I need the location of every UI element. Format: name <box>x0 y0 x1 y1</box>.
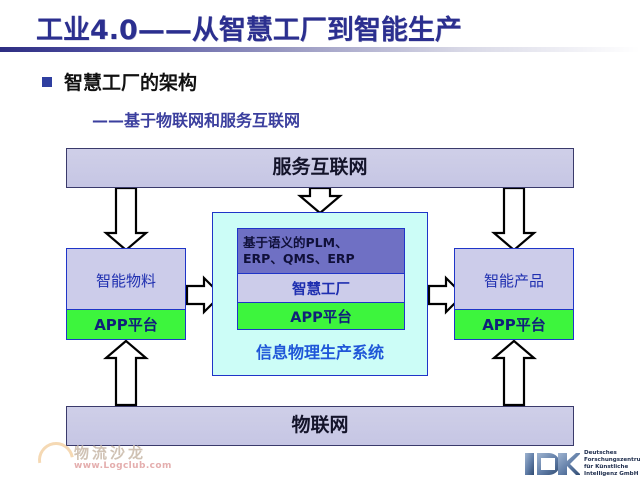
arrow-bottom-to-left-icon <box>106 341 146 405</box>
semantic-layer-line2: ERP、QMS、ERP <box>243 251 355 267</box>
arrow-top-to-center-icon <box>300 188 340 213</box>
semantic-layer-line1: 基于语义的PLM、 <box>243 235 348 251</box>
watermark-url: www.Logclub.com <box>74 461 172 471</box>
arrow-bottom-to-right-icon <box>494 341 534 405</box>
cyber-physical-production-system-box[interactable]: 基于语义的PLM、 ERP、QMS、ERP 智慧工厂 APP平台 信息物理生产系… <box>212 212 428 376</box>
semantic-plm-erp-qms-layer: 基于语义的PLM、 ERP、QMS、ERP <box>238 229 404 273</box>
smart-factory-layer: 智慧工厂 <box>238 273 404 303</box>
dfki-line-3: für Künstliche <box>584 464 640 471</box>
architecture-diagram: 服务互联网 智能物料 APP平台 基于语义的PLM、 ERP、QMS、ERP 智… <box>0 0 640 480</box>
dfki-line-1: Deutsches <box>584 450 640 457</box>
logclub-watermark: 物流沙龙 www.Logclub.com <box>22 440 178 478</box>
internet-of-services-label: 服务互联网 <box>272 157 367 179</box>
dfki-logo: Deutsches Forschungszentrum für Künstlic… <box>524 450 636 478</box>
smart-material-box[interactable]: 智能物料 APP平台 <box>66 248 186 340</box>
slide-canvas: 工业4.0——从智慧工厂到智能生产 智慧工厂的架构 ——基于物联网和服务互联网 <box>0 0 640 480</box>
cpps-caption-label: 信息物理生产系统 <box>213 339 427 363</box>
smart-factory-stack: 基于语义的PLM、 ERP、QMS、ERP 智慧工厂 APP平台 <box>237 228 405 330</box>
center-app-platform-layer: APP平台 <box>238 303 404 329</box>
dfki-wordmark: Deutsches Forschungszentrum für Künstlic… <box>584 450 640 479</box>
dfki-mark-icon <box>524 450 580 478</box>
smart-product-box[interactable]: 智能产品 APP平台 <box>454 248 574 340</box>
internet-of-services-bar[interactable]: 服务互联网 <box>66 148 574 188</box>
smart-product-title: 智能产品 <box>455 249 573 311</box>
internet-of-things-label: 物联网 <box>291 415 348 437</box>
dfki-line-4: Intelligenz GmbH <box>584 471 640 478</box>
arrow-top-to-left-icon <box>106 188 146 250</box>
arrow-top-to-right-icon <box>494 188 534 250</box>
smart-product-app-platform: APP平台 <box>455 309 573 339</box>
smart-material-title: 智能物料 <box>67 249 185 311</box>
dfki-line-2: Forschungszentrum <box>584 457 640 464</box>
watermark-brand: 物流沙龙 <box>74 442 146 463</box>
smart-material-app-platform: APP平台 <box>67 309 185 339</box>
